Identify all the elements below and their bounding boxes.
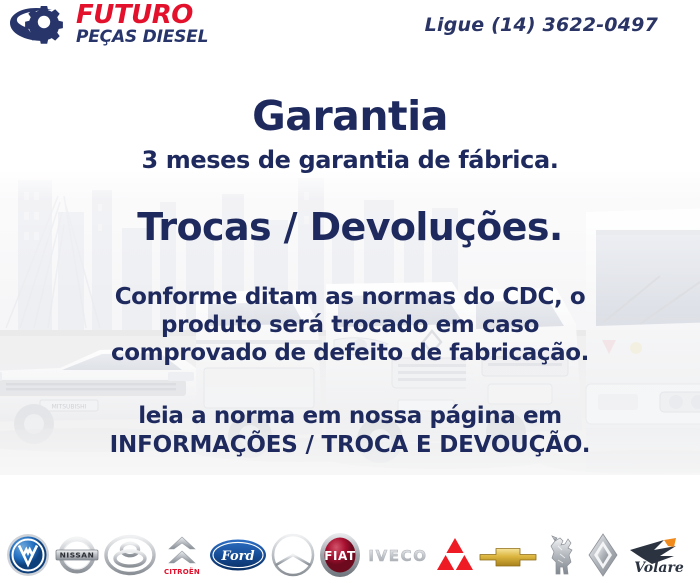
brand-iveco-logo[interactable]: IVECO <box>365 530 431 580</box>
closing-line-2: INFORMAÇÕES / TROCA E DEVOUÇÃO. <box>40 431 660 460</box>
brand-renault-logo[interactable] <box>586 530 620 580</box>
brand-mitsubishi-logo[interactable] <box>435 530 475 580</box>
banner-header: FUTURO PEÇAS DIESEL Ligue (14) 3622-0497 <box>0 0 700 60</box>
brand-toyota-logo[interactable] <box>104 530 156 580</box>
banner-content: Garantia 3 meses de garantia de fábrica.… <box>0 0 700 500</box>
policy-line-1: Conforme ditam as normas do CDC, o <box>50 283 650 311</box>
policy-line-2: produto será trocado em caso <box>50 311 650 339</box>
gear-orbit-icon <box>8 2 74 46</box>
closing-line-1: leia a norma em nossa página em <box>40 402 660 431</box>
brand-volkswagen-logo[interactable] <box>6 530 50 580</box>
promo-banner: MITSUBISHI <box>0 0 700 586</box>
phone-number[interactable]: Ligue (14) 3622-0497 <box>425 14 658 36</box>
logo-word-pecas-diesel: PEÇAS DIESEL <box>76 29 208 46</box>
warranty-heading: Garantia <box>0 96 700 137</box>
svg-text:FIAT: FIAT <box>324 549 356 563</box>
policy-line-3: comprovado de defeito de fabricação. <box>50 339 650 367</box>
brand-chevrolet-logo[interactable] <box>478 530 538 580</box>
returns-heading: Trocas / Devoluções. <box>0 208 700 246</box>
brand-nissan-logo[interactable]: NISSAN <box>54 530 100 580</box>
svg-text:Volare: Volare <box>634 560 684 576</box>
closing-paragraph: leia a norma em nossa página em INFORMAÇ… <box>40 402 660 460</box>
svg-text:IVECO: IVECO <box>368 547 427 565</box>
brand-ford-logo[interactable]: Ford <box>209 530 267 580</box>
logo-word-futuro: FUTURO <box>76 2 208 28</box>
warranty-subtitle: 3 meses de garantia de fábrica. <box>0 148 700 172</box>
brand-fiat-logo[interactable]: FIAT <box>319 530 361 580</box>
brand-logo[interactable]: FUTURO PEÇAS DIESEL <box>8 2 208 46</box>
brand-citroen-logo[interactable]: CITROËN <box>159 530 205 580</box>
svg-text:NISSAN: NISSAN <box>59 551 94 560</box>
svg-text:Ford: Ford <box>221 549 255 564</box>
brand-mercedes-benz-logo[interactable] <box>271 530 315 580</box>
brand-peugeot-logo[interactable] <box>542 530 582 580</box>
brand-logo-strip: NISSAN CITROËN Ford <box>0 524 700 586</box>
returns-policy-paragraph: Conforme ditam as normas do CDC, o produ… <box>50 283 650 367</box>
svg-text:CITROËN: CITROËN <box>165 567 201 576</box>
brand-volare-logo[interactable]: Volare <box>624 530 694 580</box>
